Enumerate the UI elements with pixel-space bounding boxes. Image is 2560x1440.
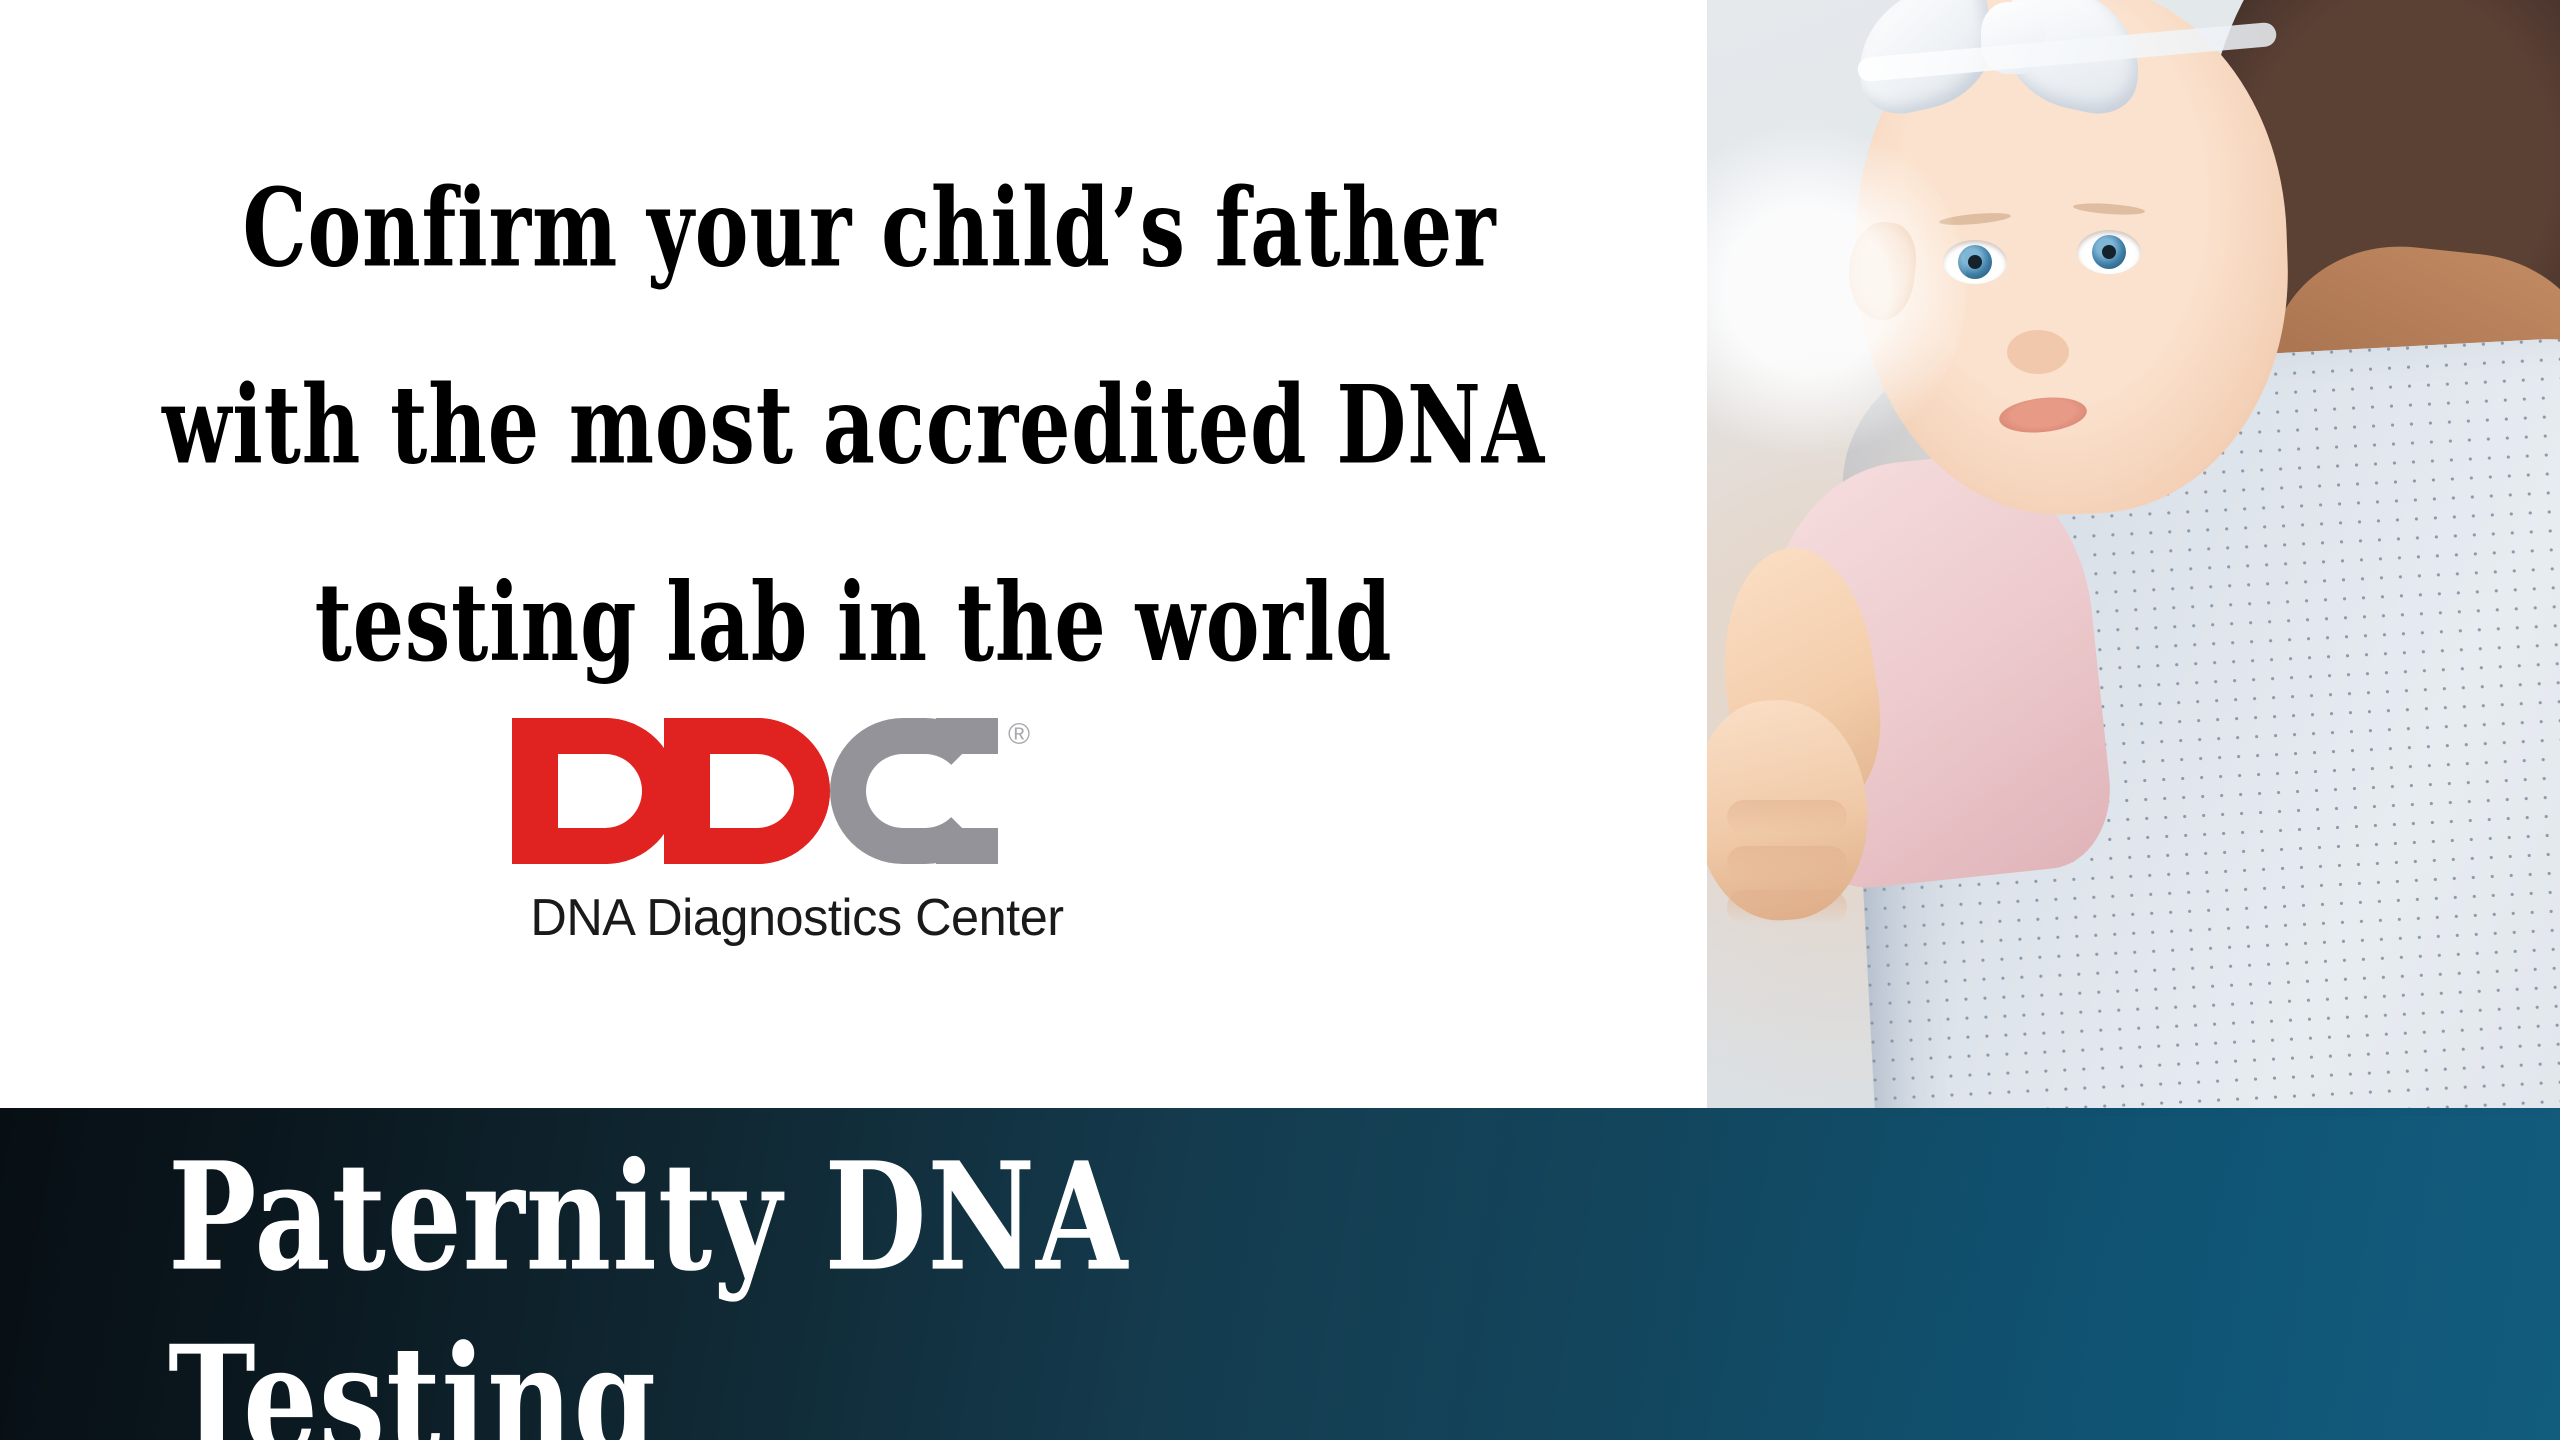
logo-letter-d-second-icon (664, 718, 830, 864)
banner-title-line-1: Paternity DNA (168, 1126, 1640, 1309)
baby-pupil-left (1968, 255, 1982, 269)
baby-pupil-right (2102, 245, 2116, 259)
baby-eye-right (2077, 230, 2141, 274)
logo-letter-c-icon (830, 718, 998, 864)
ddc-logo-mark: ® (512, 718, 1082, 878)
headline-line-2: with the most accredited DNA (137, 327, 1571, 524)
baby-iris-right (2092, 235, 2126, 269)
baby-finger-1 (1727, 800, 1847, 834)
baby-nose (2007, 330, 2069, 374)
headline-line-1: Confirm your child’s father (137, 130, 1571, 327)
left-content-panel: Confirm your child’s father with the mos… (0, 0, 1707, 1108)
poster-root: Confirm your child’s father with the mos… (0, 0, 2560, 1440)
registered-trademark-icon: ® (1008, 720, 1030, 750)
banner-title: Paternity DNA Testing (168, 1126, 1640, 1440)
bottom-banner: Paternity DNA Testing (0, 1108, 2560, 1440)
ddc-logo: ® DNA Diagnostics Center (512, 718, 1082, 958)
logo-letter-d-first-icon (512, 718, 678, 864)
banner-right-strip (1707, 1116, 2560, 1440)
logo-tagline: DNA Diagnostics Center (521, 890, 1074, 946)
headline-line-3: testing lab in the world (137, 524, 1571, 721)
headline: Confirm your child’s father with the mos… (137, 130, 1571, 721)
baby-finger-2 (1727, 846, 1847, 880)
banner-title-line-2: Testing (168, 1309, 1640, 1440)
baby-finger-3 (1727, 890, 1847, 924)
hero-photo (1707, 0, 2560, 1116)
